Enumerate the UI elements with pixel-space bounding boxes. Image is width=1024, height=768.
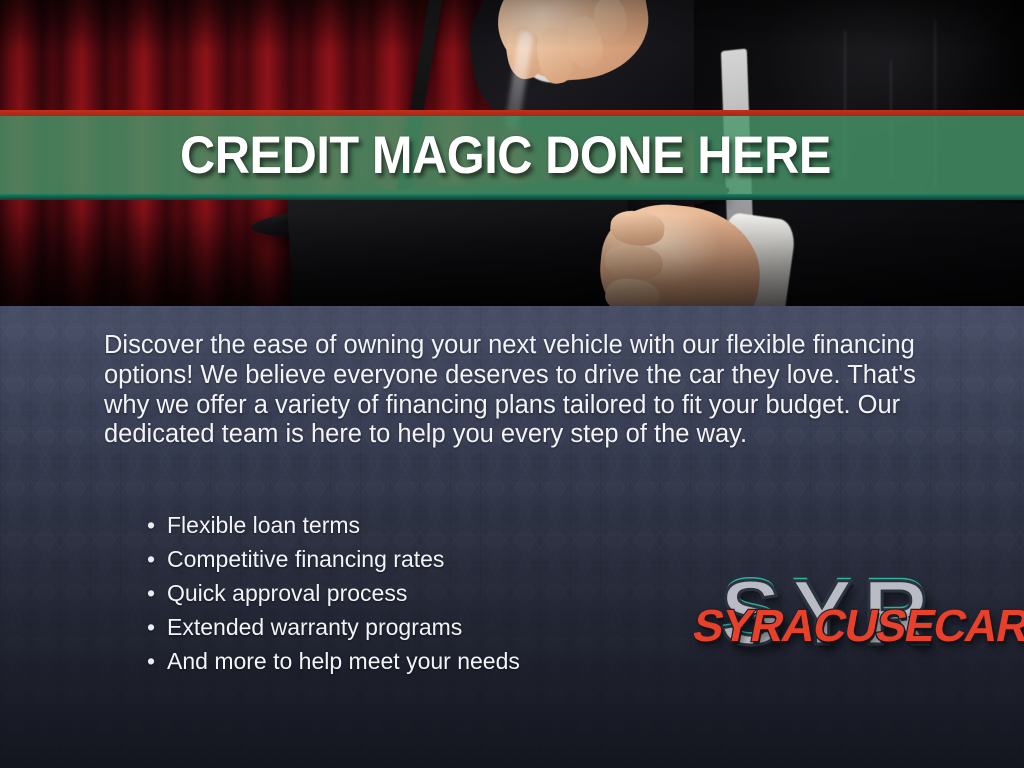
list-item-label: And more to help meet your needs bbox=[167, 648, 520, 674]
logo-wordmark: SYRACUSECARS.COM bbox=[690, 603, 999, 648]
bullet-icon: • bbox=[147, 644, 155, 678]
benefits-list: • Flexible loan terms • Competitive fina… bbox=[147, 508, 520, 678]
bullet-icon: • bbox=[147, 610, 155, 644]
list-item-label: Competitive financing rates bbox=[167, 546, 444, 572]
syracusecars-logo[interactable]: SYR SYRACUSECARS.COM bbox=[700, 565, 985, 685]
bullet-icon: • bbox=[147, 542, 155, 576]
list-item: • Quick approval process bbox=[147, 576, 520, 610]
bullet-icon: • bbox=[147, 508, 155, 542]
list-item: • Flexible loan terms bbox=[147, 508, 520, 542]
list-item: • Extended warranty programs bbox=[147, 610, 520, 644]
list-item-label: Extended warranty programs bbox=[167, 614, 462, 640]
list-item: • And more to help meet your needs bbox=[147, 644, 520, 678]
list-item-label: Flexible loan terms bbox=[167, 512, 360, 538]
bullet-icon: • bbox=[147, 576, 155, 610]
list-item-label: Quick approval process bbox=[167, 580, 407, 606]
body-content: Discover the ease of owning your next ve… bbox=[0, 0, 1024, 768]
list-item: • Competitive financing rates bbox=[147, 542, 520, 576]
intro-paragraph: Discover the ease of owning your next ve… bbox=[104, 331, 926, 450]
slide-root: CREDIT MAGIC DONE HERE Discover the ease… bbox=[0, 0, 1024, 768]
